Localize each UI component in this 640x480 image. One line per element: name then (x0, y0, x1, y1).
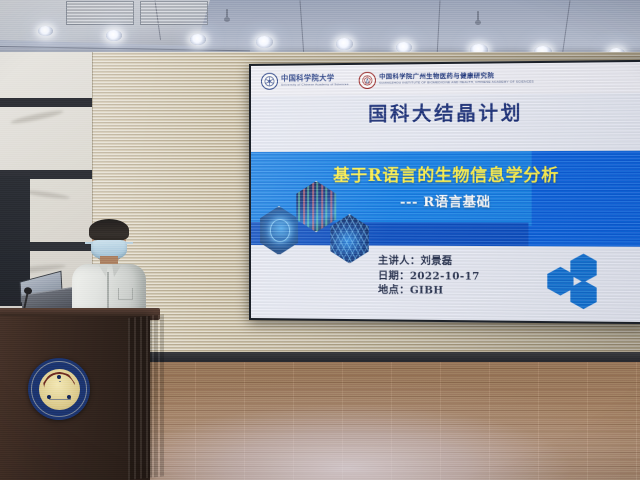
speaker-hair (89, 219, 129, 241)
air-vent (66, 1, 134, 25)
slide-surface: 中国科学院大学 University of Chinese Academy of… (251, 62, 640, 322)
slide-header: 中国科学院大学 University of Chinese Academy of… (251, 62, 640, 96)
slide-credits: 主讲人：刘景磊 日期：2022-10-17 地点：GIBH (378, 255, 480, 300)
ceiling-downlight (256, 36, 273, 48)
credit-date: 日期：2022-10-17 (378, 269, 480, 284)
speaker (72, 222, 146, 322)
ceiling-downlight (336, 38, 353, 50)
ucas-logo: 中国科学院大学 University of Chinese Academy of… (261, 72, 349, 90)
ceiling-sprinkler (226, 9, 228, 19)
podium-emblem (28, 358, 90, 420)
shirt-collar-right (112, 264, 122, 277)
gibh-logo: 中国科学院广州生物医药与健康研究院 GUANGZHOU INSTITUTE OF… (359, 70, 534, 89)
gibh-logo-text: 中国科学院广州生物医药与健康研究院 GUANGZHOU INSTITUTE OF… (379, 73, 534, 85)
ucas-crest-icon (261, 72, 278, 89)
gibh-name-en: GUANGZHOU INSTITUTE OF BIOMEDICINE AND H… (379, 81, 534, 86)
credit-location: 地点：GIBH (378, 284, 480, 300)
air-vent (140, 1, 208, 25)
circuit-ring-icon (270, 219, 291, 242)
hexagon-shape (570, 280, 596, 309)
emblem-core (39, 369, 80, 410)
ucas-name-cn: 中国科学院大学 (281, 74, 349, 82)
ucas-logo-text: 中国科学院大学 University of Chinese Academy of… (281, 74, 349, 86)
shirt-pocket (118, 288, 133, 300)
credit-speaker: 主讲人：刘景磊 (378, 255, 480, 270)
ceiling-sprinkler (477, 11, 479, 22)
ceiling-downlight (190, 34, 206, 45)
mask-strap (125, 242, 133, 244)
program-title: 国科大结晶计划 (251, 97, 640, 127)
wall-trim-band (0, 98, 92, 107)
slide-main-title: 基于R语言的生物信息学分析 (251, 161, 640, 186)
lecture-hall-photo: 中国科学院大学 University of Chinese Academy of… (0, 0, 640, 480)
ceiling-downlight (106, 30, 122, 41)
emblem-node (47, 395, 51, 399)
emblem-node (57, 375, 61, 379)
ceiling-downlight (38, 26, 53, 36)
hexagon-shape (570, 254, 596, 283)
presentation-screen[interactable]: 中国科学院大学 University of Chinese Academy of… (249, 60, 640, 324)
gibh-crest-icon (359, 71, 376, 88)
emblem-triangle (49, 381, 69, 398)
podium-side-panel (128, 314, 164, 480)
marble-vein (10, 108, 64, 125)
mask-strap (85, 242, 93, 244)
honeycomb-logo (547, 253, 600, 311)
emblem-node (67, 395, 71, 399)
hexagon-shape (547, 267, 573, 296)
ucas-name-en: University of Chinese Academy of Science… (281, 83, 349, 87)
